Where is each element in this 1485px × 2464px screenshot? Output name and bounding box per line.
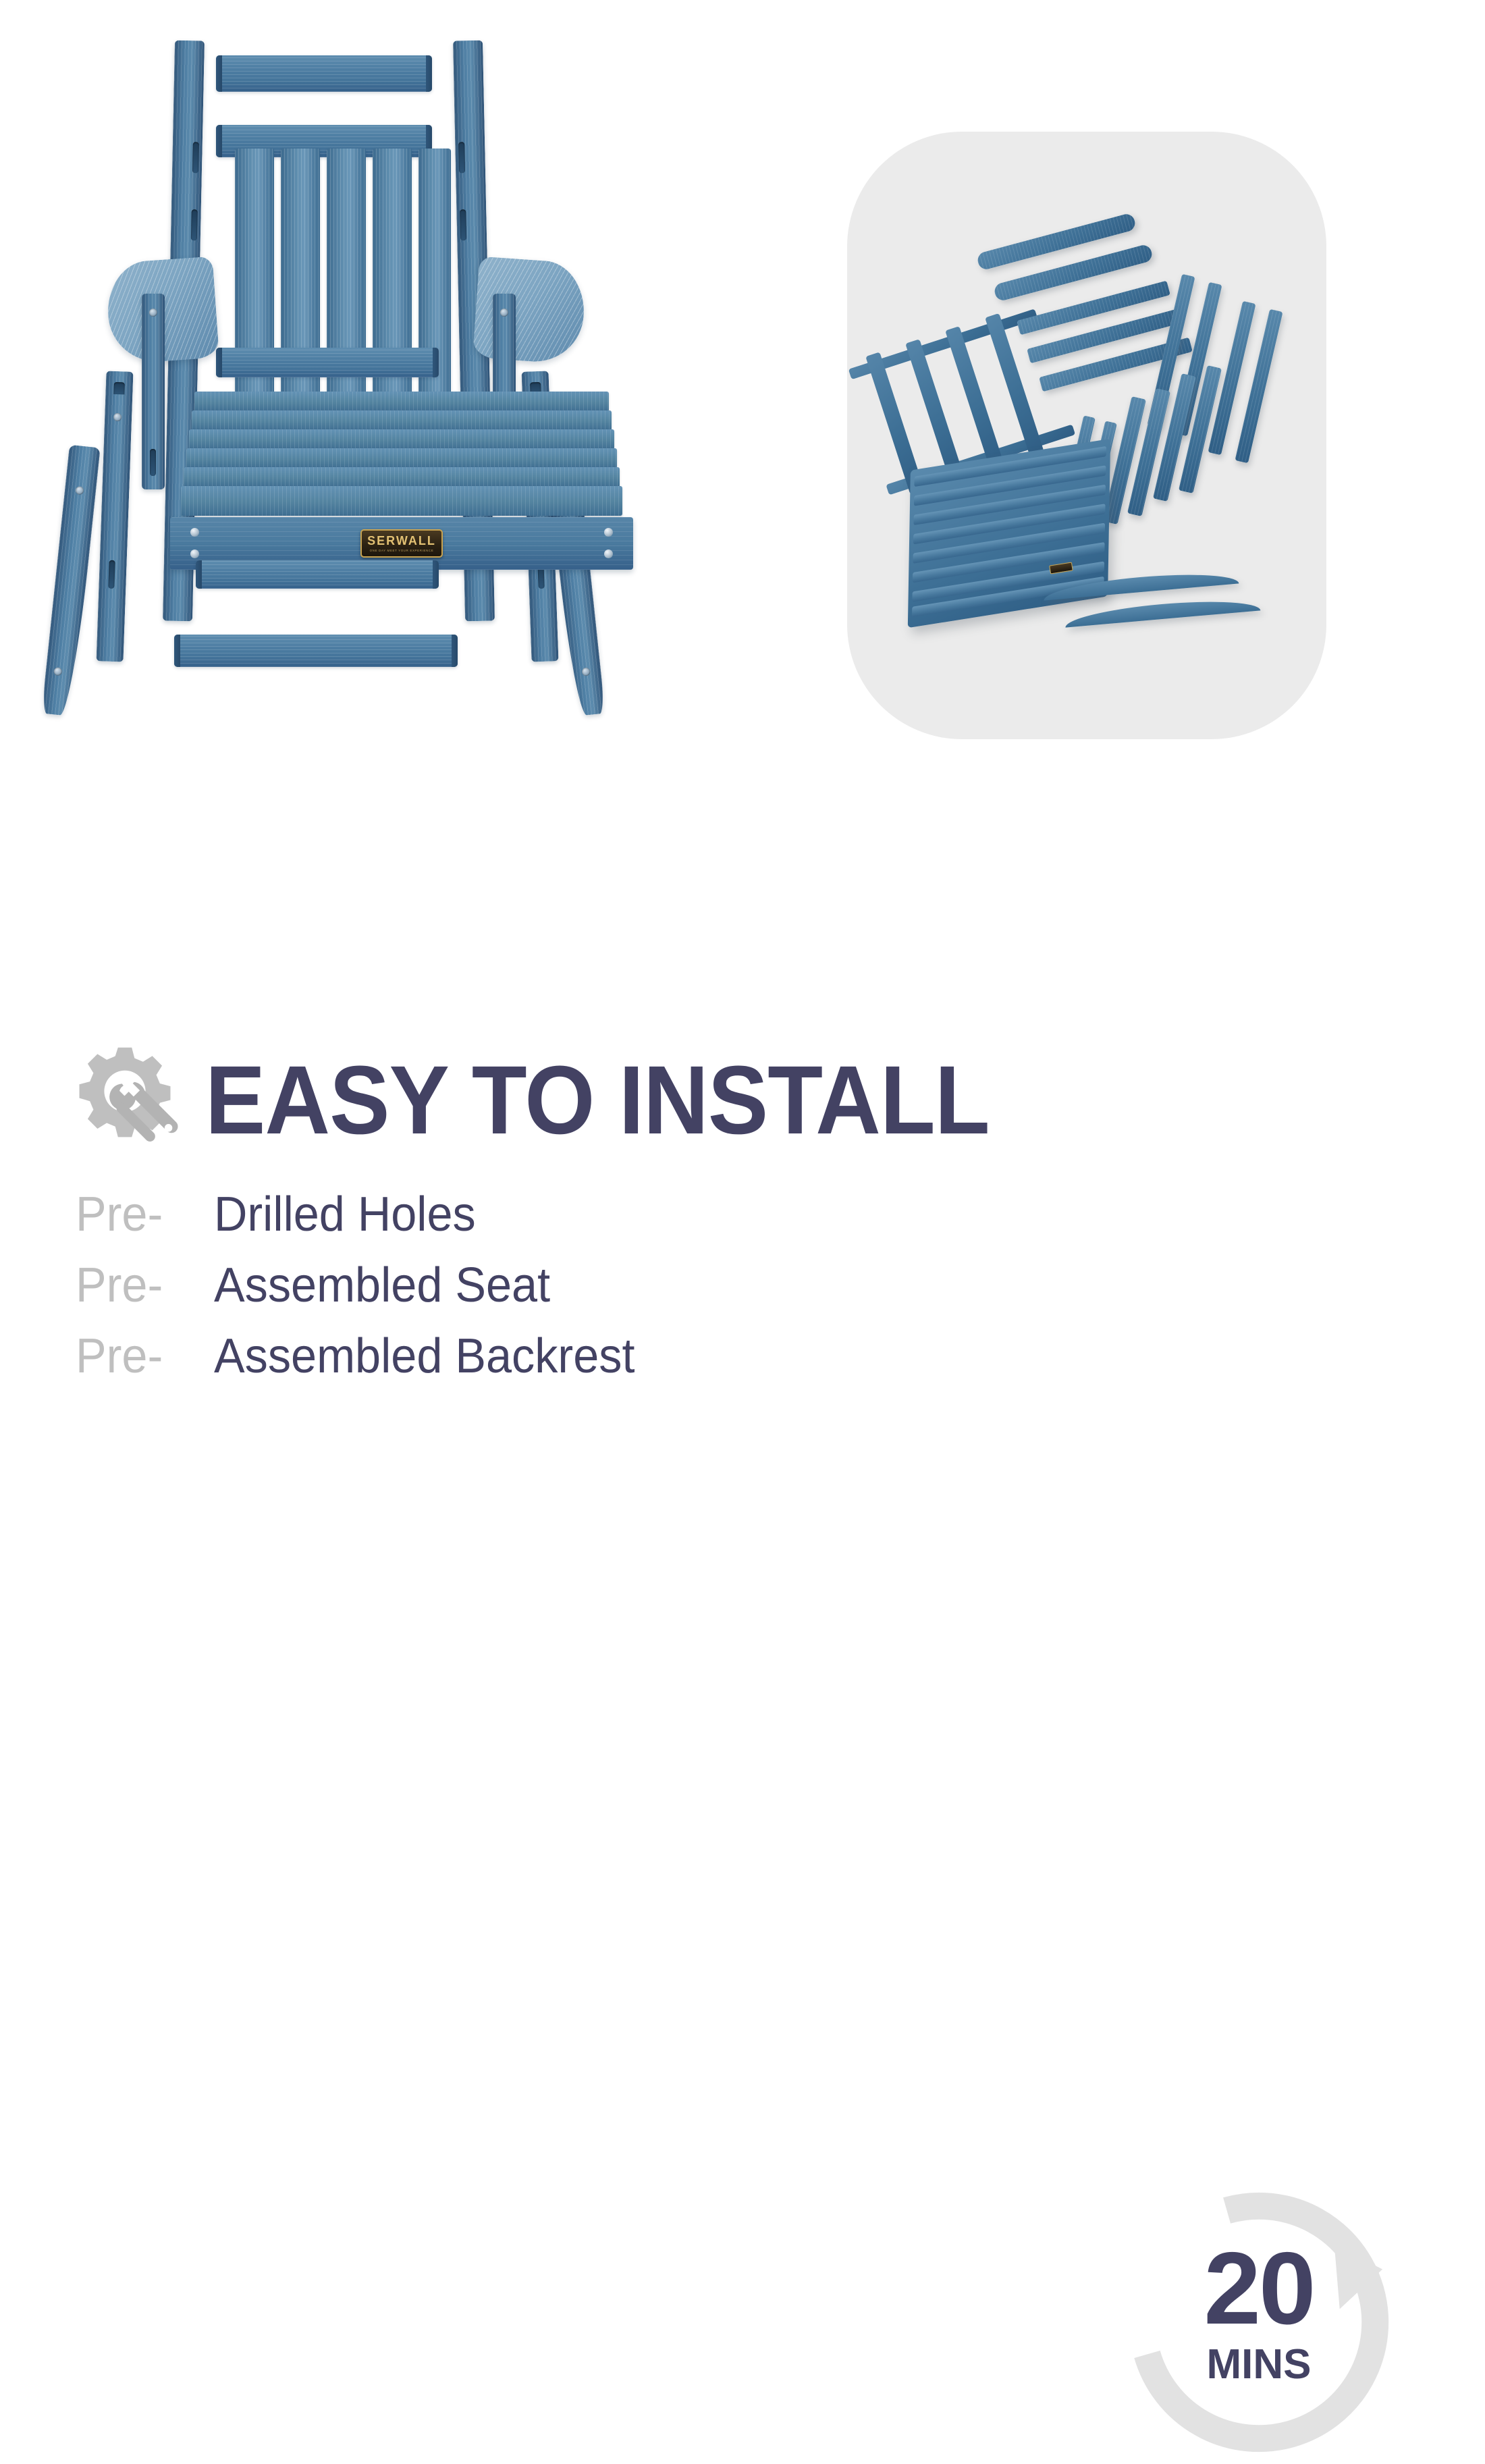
feature-prefix: Pre- — [76, 1260, 207, 1311]
list-item: Pre- Assembled Seat — [76, 1260, 657, 1311]
flatlay-curved-leg-2 — [1064, 595, 1261, 627]
headline-row: EASY TO INSTALL — [67, 1043, 1048, 1158]
seat-slat — [192, 410, 612, 431]
list-item: Pre- Drilled Holes — [76, 1189, 657, 1240]
seat-slat — [181, 486, 622, 516]
hero-product-area: SERWALL ONE DAY MEET YOUR EXPERIENCE — [0, 0, 1485, 1013]
arm-support-left — [142, 294, 165, 489]
gear-wrench-icon — [67, 1043, 182, 1158]
feature-label: Drilled Holes — [214, 1189, 476, 1240]
feature-prefix: Pre- — [76, 1331, 207, 1382]
lower-back-rail — [216, 348, 439, 377]
badge-number: 20 — [1117, 2237, 1401, 2340]
stretcher-upper — [196, 560, 439, 589]
feature-list: Pre- Drilled Holes Pre- Assembled Seat P… — [76, 1189, 657, 1402]
exploded-chair-illustration: SERWALL ONE DAY MEET YOUR EXPERIENCE — [27, 27, 837, 1006]
disassembled-parts-panel — [847, 132, 1326, 739]
brand-plate: SERWALL ONE DAY MEET YOUR EXPERIENCE — [360, 529, 443, 558]
feature-prefix: Pre- — [76, 1189, 207, 1240]
top-rail — [216, 55, 432, 92]
brand-name: SERWALL — [367, 535, 436, 547]
list-item: Pre- Assembled Backrest — [76, 1331, 657, 1382]
product-feature-banner: SERWALL ONE DAY MEET YOUR EXPERIENCE — [0, 0, 1485, 1485]
page-title: EASY TO INSTALL — [205, 1052, 990, 1149]
seat-slat — [184, 467, 620, 487]
front-leg-left — [41, 445, 101, 717]
stretcher-lower — [174, 635, 458, 667]
text-block: EASY TO INSTALL Pre- Drilled Holes Pre- … — [0, 1013, 1485, 1485]
badge-unit: MINS — [1117, 2344, 1401, 2386]
brand-tagline: ONE DAY MEET YOUR EXPERIENCE — [370, 549, 434, 552]
seat-slat — [194, 392, 609, 412]
seat-slat — [189, 429, 614, 450]
flatlay-seat — [908, 439, 1110, 628]
time-badge: 20 MINS — [1117, 2180, 1401, 2464]
feature-label: Assembled Backrest — [214, 1331, 634, 1382]
seat-slat — [186, 448, 617, 468]
rear-leg-left — [97, 371, 134, 662]
feature-label: Assembled Seat — [214, 1260, 550, 1311]
